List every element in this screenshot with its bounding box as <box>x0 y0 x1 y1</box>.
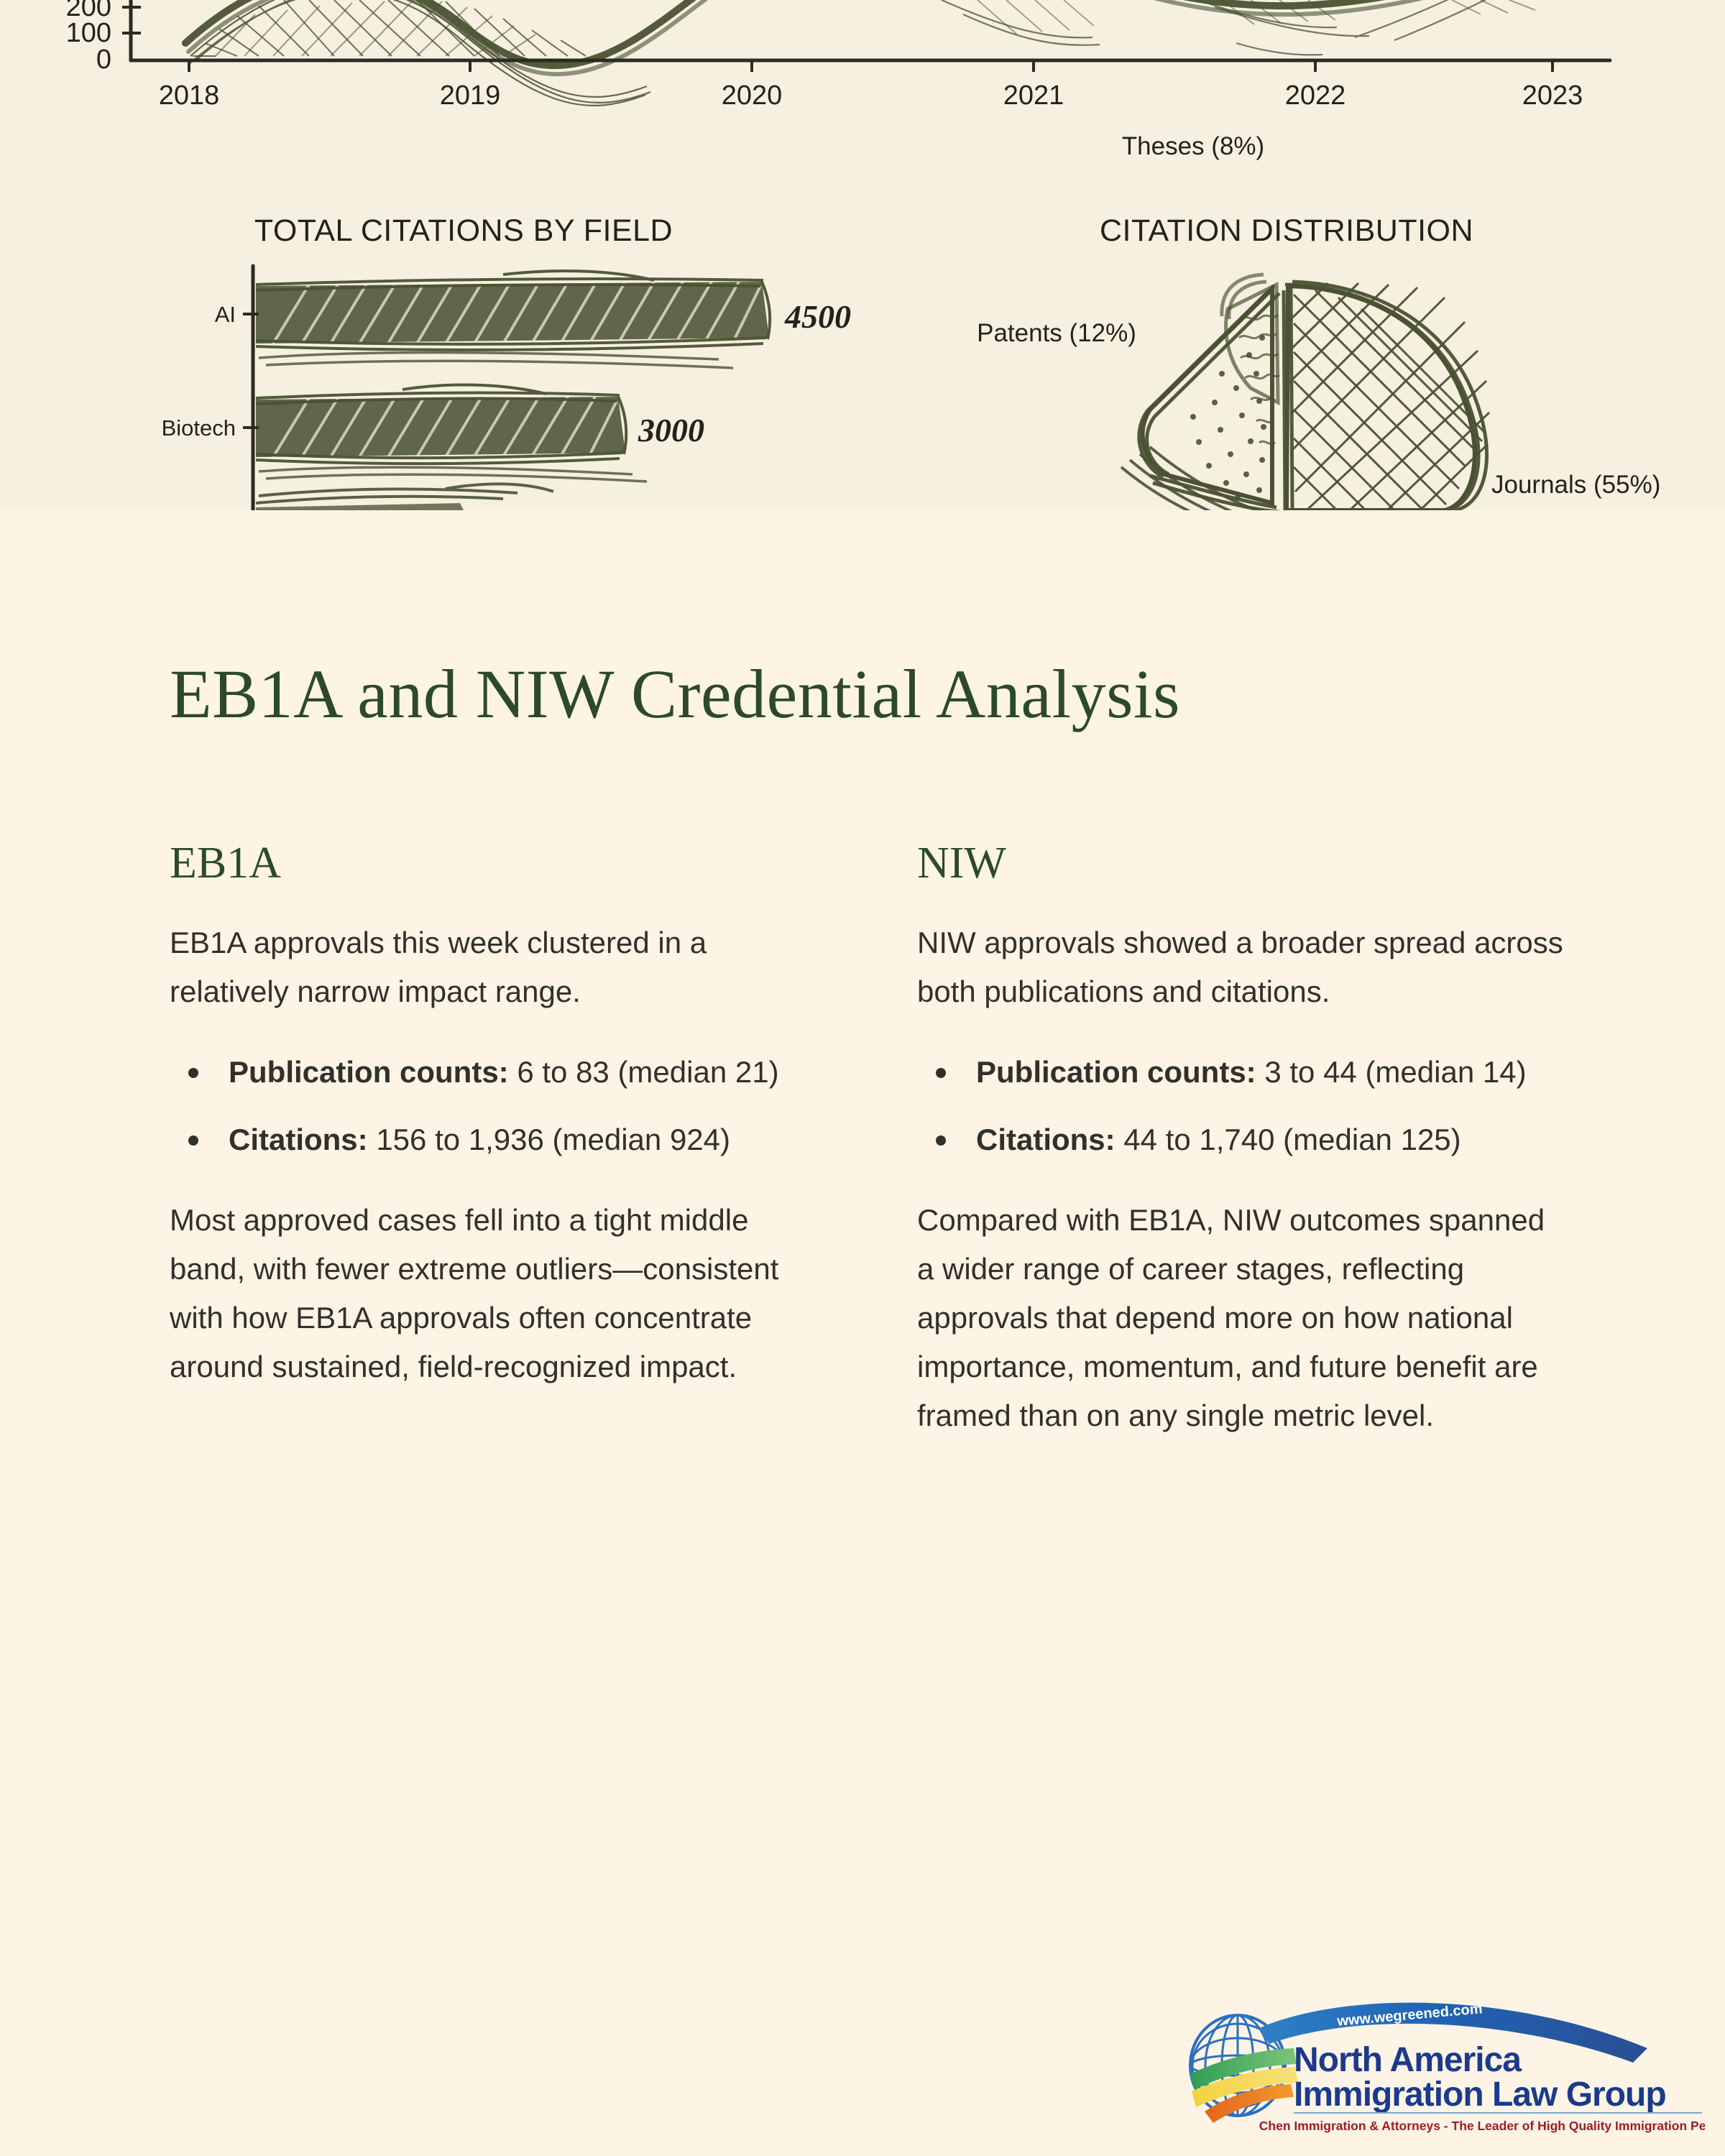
bar-label-ai: AI <box>215 302 236 327</box>
xtick-2018: 2018 <box>159 80 220 111</box>
eb1a-citations-value: 156 to 1,936 (median 924) <box>368 1123 730 1156</box>
niw-heading: NIW <box>917 841 1564 885</box>
bar-value-ai: 4500 <box>784 298 851 335</box>
page-title: EB1A and NIW Credential Analysis <box>170 654 1180 734</box>
charts-band: 200 100 0 2018 2019 2020 2021 2022 2023 … <box>0 0 1725 510</box>
bar-partial <box>256 484 553 510</box>
list-item: Citations: 44 to 1,740 (median 125) <box>917 1115 1564 1164</box>
pie-label-journals: Journals (55%) <box>1491 471 1660 499</box>
eb1a-outro-paragraph: Most approved cases fell into a tight mi… <box>170 1196 816 1391</box>
eb1a-citations-label: Citations: <box>229 1123 368 1156</box>
niw-citations-value: 44 to 1,740 (median 125) <box>1115 1123 1461 1156</box>
eb1a-stats-list: Publication counts: 6 to 83 (median 21) … <box>170 1048 816 1164</box>
niw-stats-list: Publication counts: 3 to 44 (median 14) … <box>917 1048 1564 1164</box>
bar-ai: AI 4500 <box>215 271 851 368</box>
bar-chart-title: TOTAL CITATIONS BY FIELD <box>254 213 673 248</box>
list-item: Publication counts: 6 to 83 (median 21) <box>170 1048 816 1097</box>
ytick-100: 100 <box>66 18 111 48</box>
bar-biotech: Biotech 3000 <box>162 384 704 482</box>
eb1a-heading: EB1A <box>170 841 816 885</box>
xtick-2022: 2022 <box>1285 80 1346 111</box>
line-chart: 200 100 0 2018 2019 2020 2021 2022 2023 <box>66 0 1610 111</box>
bar-label-biotech: Biotech <box>162 415 236 441</box>
bar-chart: TOTAL CITATIONS BY FIELD <box>162 213 851 510</box>
logo-svg: www.wegreened.com North America Immigrat… <box>1173 1996 1705 2140</box>
pie-chart-title: CITATION DISTRIBUTION <box>1100 213 1473 248</box>
logo-line2: Immigration Law Group <box>1294 2076 1666 2114</box>
two-column-layout: EB1A EB1A approvals this week clustered … <box>170 841 1578 1472</box>
pie-label-theses: Theses (8%) <box>1122 132 1264 160</box>
eb1a-intro-paragraph: EB1A approvals this week clustered in a … <box>170 918 816 1016</box>
xtick-2021: 2021 <box>1003 80 1064 111</box>
sketch-charts-svg: 200 100 0 2018 2019 2020 2021 2022 2023 … <box>0 0 1725 510</box>
company-logo[interactable]: www.wegreened.com North America Immigrat… <box>1173 1996 1705 2140</box>
xtick-2023: 2023 <box>1522 80 1583 111</box>
pie-chart: CITATION DISTRIBUTION <box>977 132 1660 510</box>
niw-outro-paragraph: Compared with EB1A, NIW outcomes spanned… <box>917 1196 1564 1440</box>
pie-label-patents: Patents (12%) <box>977 319 1136 347</box>
xtick-2020: 2020 <box>722 80 783 111</box>
column-eb1a: EB1A EB1A approvals this week clustered … <box>170 841 816 1472</box>
niw-intro-paragraph: NIW approvals showed a broader spread ac… <box>917 918 1564 1016</box>
niw-publication-counts-value: 3 to 44 (median 14) <box>1256 1055 1527 1089</box>
list-item: Publication counts: 3 to 44 (median 14) <box>917 1048 1564 1097</box>
article-content: EB1A and NIW Credential Analysis EB1A EB… <box>0 510 1725 2156</box>
eb1a-publication-counts-value: 6 to 83 (median 21) <box>509 1055 779 1089</box>
bar-value-biotech: 3000 <box>638 412 704 448</box>
niw-publication-counts-label: Publication counts: <box>976 1055 1256 1089</box>
niw-citations-label: Citations: <box>976 1123 1115 1156</box>
pie-slice-journals <box>1284 282 1489 510</box>
ytick-0: 0 <box>96 45 111 75</box>
list-item: Citations: 156 to 1,936 (median 924) <box>170 1115 816 1164</box>
logo-tagline: Chen Immigration & Attorneys - The Leade… <box>1259 2119 1705 2133</box>
logo-line1: North America <box>1294 2041 1522 2079</box>
eb1a-publication-counts-label: Publication counts: <box>229 1055 509 1089</box>
column-niw: NIW NIW approvals showed a broader sprea… <box>917 841 1564 1472</box>
xtick-2019: 2019 <box>440 80 501 111</box>
